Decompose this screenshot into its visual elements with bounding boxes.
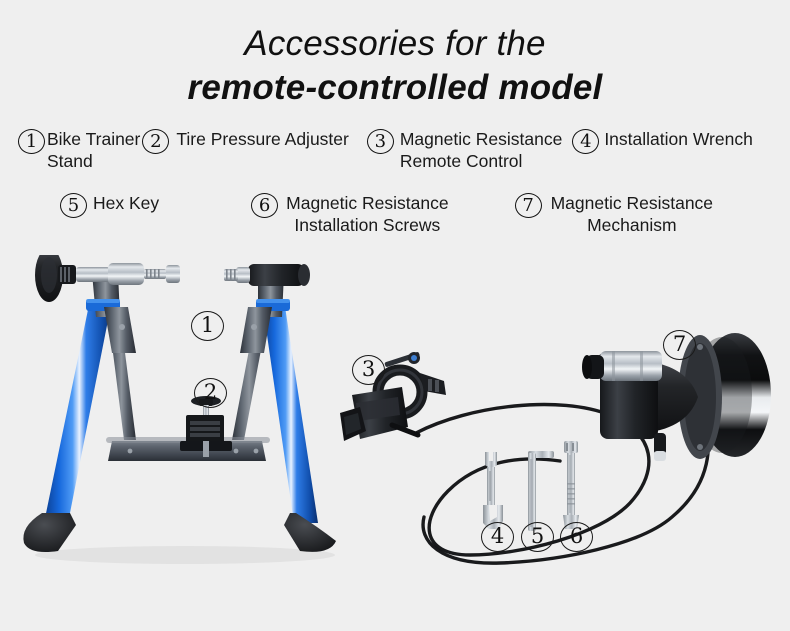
infographic-page: Accessories for the remote-controlled mo… (0, 0, 790, 631)
photo-badge-1: 1 (191, 311, 224, 341)
bike-trainer-stand-photo (23, 255, 336, 564)
photo-badge-7: 7 (663, 330, 696, 360)
legend-item-7: 7 Magnetic Resistance Mechanism (515, 192, 713, 236)
legend-item-4: 4 Installation Wrench (572, 128, 753, 154)
title-line-1: Accessories for the (0, 22, 790, 66)
tools-group (483, 441, 579, 531)
title-line-2: remote-controlled model (0, 66, 790, 110)
photo-badge-6: 6 (560, 522, 593, 552)
legend-label-2: Tire Pressure Adjuster (176, 128, 348, 150)
legend-label-1: Bike Trainer Stand (47, 128, 140, 172)
photo-badge-4: 4 (481, 522, 514, 552)
legend-item-6: 6 Magnetic Resistance Installation Screw… (251, 192, 448, 236)
legend-label-6: Magnetic Resistance Installation Screws (286, 192, 448, 236)
legend-label-3: Magnetic Resistance Remote Control (400, 128, 562, 172)
photo-badge-2: 2 (194, 378, 227, 408)
legend-badge-7: 7 (515, 193, 542, 218)
quick-release-right (224, 264, 310, 286)
installation-screw-photo (563, 441, 579, 529)
foot-left (23, 513, 76, 552)
hex-key-photo (528, 451, 554, 531)
legend-badge-4: 4 (572, 129, 599, 154)
legend-row-1: 1 Bike Trainer Stand 2 Tire Pressure Adj… (18, 128, 753, 172)
legend-label-4: Installation Wrench (604, 128, 753, 150)
legend-item-3: 3 Magnetic Resistance Remote Control (367, 128, 562, 172)
page-title: Accessories for the remote-controlled mo… (0, 22, 790, 110)
footer-strip (0, 617, 790, 631)
legend-badge-6: 6 (251, 193, 278, 218)
legend-item-1: 1 Bike Trainer Stand (18, 128, 140, 172)
legend-label-7: Magnetic Resistance Mechanism (551, 192, 713, 236)
legend-label-5: Hex Key (93, 192, 159, 214)
legend-badge-5: 5 (60, 193, 87, 218)
photo-badge-3: 3 (352, 355, 385, 385)
legend-badge-1: 1 (18, 129, 45, 154)
legend-badge-3: 3 (367, 129, 394, 154)
photo-badge-5: 5 (521, 522, 554, 552)
product-photo-stage (0, 255, 790, 615)
legend-item-5: 5 Hex Key (60, 192, 159, 218)
legend-badge-2: 2 (142, 129, 169, 154)
legend-row-2: 5 Hex Key 6 Magnetic Resistance Installa… (60, 192, 713, 236)
legend-item-2: 2 Tire Pressure Adjuster (142, 128, 348, 154)
